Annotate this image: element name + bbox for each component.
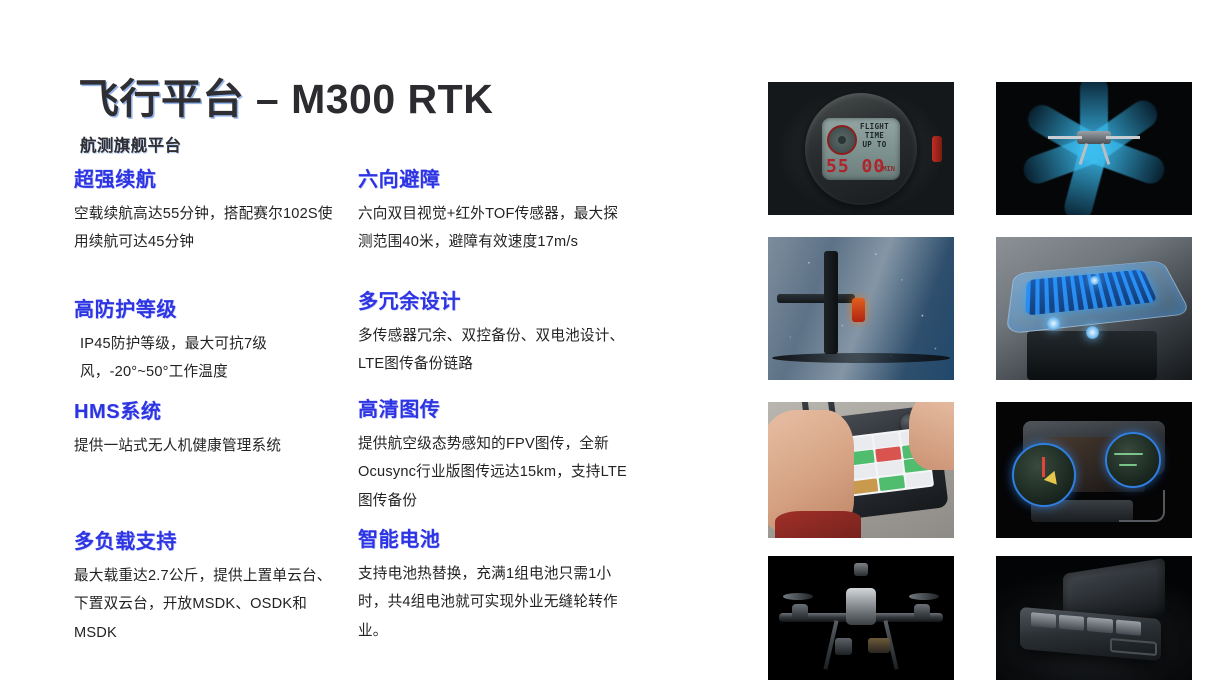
payload-gimbal-camera — [835, 638, 852, 655]
feature-multi-redundancy: 多冗余设计 多传感器冗余、双控备份、双电池设计、LTE图传备份链路 — [358, 290, 658, 379]
sensor-dot-icon — [1047, 317, 1060, 330]
watch-line-1: FLIGHT — [853, 122, 896, 131]
feature-body: 支持电池热替换，充满1组电池只需1小时，共4组电池就可实现外业无缝轮转作业。 — [358, 560, 628, 645]
watch-line-3: UP TO — [853, 140, 896, 149]
feature-heading: 多负载支持 — [74, 530, 374, 554]
fpv-ocusync-controller-render: FPV 图传与 Ocusync 行业版 — [996, 402, 1192, 538]
image-gallery: FLIGHT TIME UP TO 55 00 MIN 战术手表显示飞行时间 — [768, 82, 1194, 678]
content-pane: 飞行平台 – M300 RTK 航测旗舰平台 超强续航 空载续航高达55分钟，搭… — [0, 0, 740, 686]
watch-side-button — [932, 136, 942, 162]
hms-cell-ok — [878, 475, 905, 491]
page-title-model: M300 RTK — [291, 76, 493, 122]
feature-super-endurance: 超强续航 空载续航高达55分钟，搭配赛尔102S使用续航可达45分钟 — [74, 168, 374, 257]
drone-motor — [914, 604, 930, 620]
feature-multi-payload: 多负载支持 最大载重达2.7公斤，提供上置单云台、下置双云台，开放MSDK、OS… — [74, 530, 374, 647]
sensor-dot-icon — [1090, 276, 1099, 285]
magnifier-map-icon — [1105, 432, 1161, 488]
battery-slot — [1031, 612, 1056, 628]
feature-body: 空载续航高达55分钟，搭配赛尔102S使用续航可达45分钟 — [74, 200, 344, 257]
six-direction-obstacle-sensing-render: 六向避障感知示意 — [996, 82, 1192, 215]
feature-body: 提供航空级态势感知的FPV图传，全新Ocusync行业版图传远达15km，支持L… — [358, 430, 628, 515]
upward-gimbal — [854, 563, 867, 575]
drone-motor — [792, 604, 808, 620]
feature-heading: 高防护等级 — [74, 298, 374, 322]
battery-slot — [1059, 614, 1084, 630]
feature-heading: HMS系统 — [74, 400, 374, 424]
feature-body: 多传感器冗余、双控备份、双电池设计、LTE图传备份链路 — [358, 322, 628, 379]
slide-root: 飞行平台 – M300 RTK 航测旗舰平台 超强续航 空载续航高达55分钟，搭… — [0, 0, 1222, 686]
feature-body: 六向双目视觉+红外TOF传感器，最大探测范围40米，避障有效速度17m/s — [358, 200, 628, 257]
rain-ip45-protection-photo: 雨中作业 IP45 防护 — [768, 237, 954, 380]
title-block: 飞行平台 – M300 RTK 航测旗舰平台 — [78, 76, 698, 156]
hms-cell-warn — [851, 478, 878, 494]
m300-rtk-front-payload-render: M300 RTK 多负载正视图 — [768, 556, 954, 680]
smart-controller-hms-photo: 手持智能遥控器 HMS 健康管理界面 — [768, 402, 954, 538]
drone-fuselage — [846, 588, 876, 625]
feature-hd-transmission: 高清图传 提供航空级态势感知的FPV图传，全新Ocusync行业版图传远达15k… — [358, 398, 658, 515]
watch-flight-time-photo: FLIGHT TIME UP TO 55 00 MIN 战术手表显示飞行时间 — [768, 82, 954, 215]
watch-face: FLIGHT TIME UP TO 55 00 MIN — [822, 118, 900, 180]
hms-cell — [873, 432, 900, 448]
hms-cell-alert — [874, 446, 901, 462]
feature-body: 最大载重达2.7公斤，提供上置单云台、下置双云台，开放MSDK、OSDK和MSD… — [74, 562, 344, 647]
feature-heading: 超强续航 — [74, 168, 374, 192]
page-title: 飞行平台 – M300 RTK — [78, 76, 698, 123]
feature-heading: 智能电池 — [358, 528, 658, 552]
drone-propeller — [772, 353, 951, 363]
watch-unit: MIN — [882, 165, 895, 173]
sensor-dot-icon — [1086, 326, 1099, 339]
aircraft-marker-icon — [1044, 470, 1062, 488]
hms-cell — [876, 460, 903, 476]
feature-body: IP45防护等级，最大可抗7级风，-20°~50°工作温度 — [74, 330, 350, 387]
hms-cell — [905, 471, 932, 487]
watch-value: 55 00 — [826, 158, 885, 176]
payload-thermal-camera — [868, 638, 890, 653]
operator-hand — [909, 402, 954, 470]
page-title-separator: – — [244, 76, 291, 122]
drone-arm — [1106, 136, 1140, 139]
drone-leg — [1079, 143, 1089, 165]
battery-slot — [1088, 617, 1113, 633]
stand-legs — [1119, 490, 1164, 522]
drone-arm — [777, 294, 855, 303]
features-region: 超强续航 空载续航高达55分钟，搭配赛尔102S使用续航可达45分钟 高防护等级… — [0, 168, 740, 678]
drone-silhouette — [1046, 123, 1142, 169]
operator-sleeve — [775, 511, 861, 538]
magnifier-attitude-icon — [1012, 443, 1076, 507]
battery-charging-case-render: 智能电池充电箱 — [996, 556, 1192, 680]
compass-needle-icon — [1042, 457, 1045, 477]
hud-line — [1119, 464, 1137, 466]
feature-high-protection: 高防护等级 IP45防护等级，最大可抗7级风，-20°~50°工作温度 — [74, 298, 374, 387]
drone-arm — [824, 251, 838, 354]
feature-six-direction-sensing: 六向避障 六向双目视觉+红外TOF传感器，最大探测范围40米，避障有效速度17m… — [358, 168, 658, 257]
watch-line-2: TIME — [853, 131, 896, 140]
feature-heading: 多冗余设计 — [358, 290, 658, 314]
status-led-icon — [852, 298, 865, 322]
watch-screen-text: FLIGHT TIME UP TO — [853, 122, 896, 150]
battery-slot — [1116, 619, 1141, 635]
page-subtitle: 航测旗舰平台 — [80, 132, 698, 156]
drone-arm — [1048, 136, 1082, 139]
drone-leg — [1101, 143, 1111, 165]
feature-heading: 六向避障 — [358, 168, 658, 192]
page-title-cn: 飞行平台 — [78, 76, 244, 122]
feature-body: 提供一站式无人机健康管理系统 — [74, 432, 344, 460]
feature-hms-system: HMS系统 提供一站式无人机健康管理系统 — [74, 400, 374, 460]
feature-smart-battery: 智能电池 支持电池热替换，充满1组电池只需1小时，共4组电池就可实现外业无缝轮转… — [358, 528, 658, 645]
airframe-base — [1027, 331, 1156, 380]
hud-line — [1114, 453, 1143, 455]
feature-heading: 高清图传 — [358, 398, 658, 422]
xray-redundancy-internals-render: 多冗余设计内部透视 — [996, 237, 1192, 380]
